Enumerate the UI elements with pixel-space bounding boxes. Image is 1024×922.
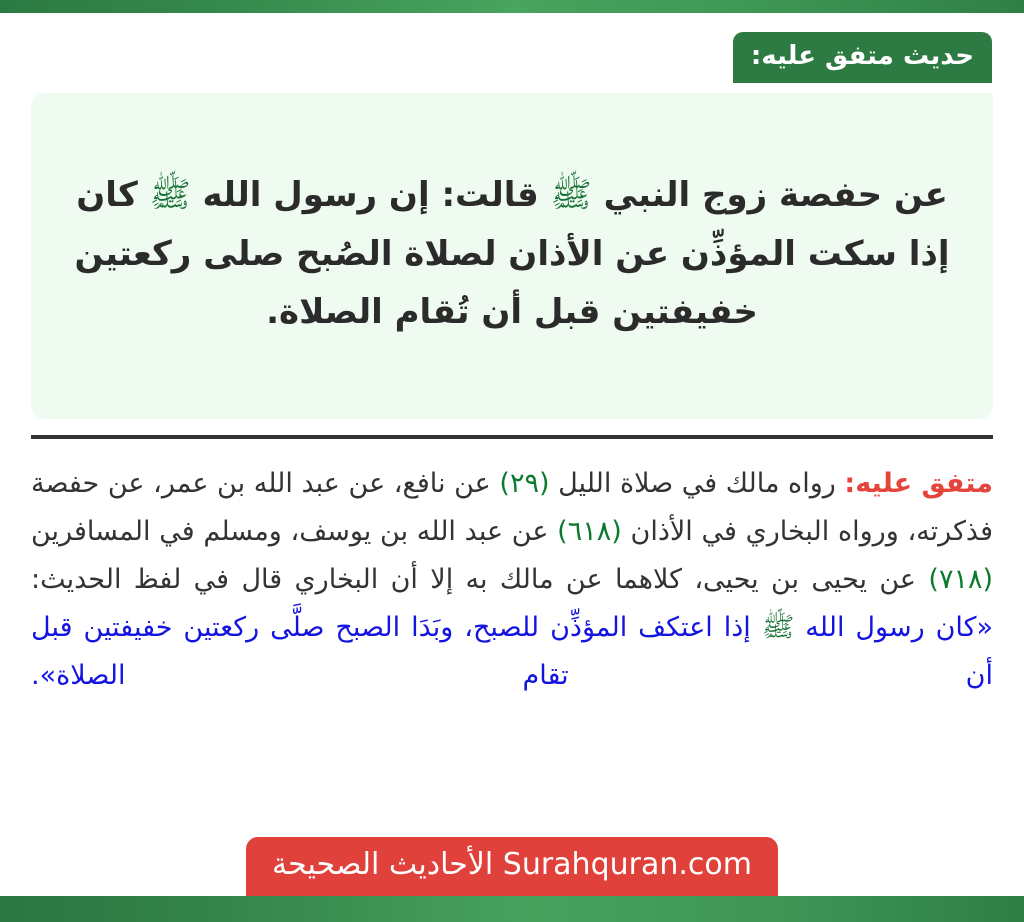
footer-row: Surahquran.com الأحاديث الصحيحة <box>0 837 1024 896</box>
sallallahu-alayhi-wasallam-icon: ﷺ <box>551 175 592 215</box>
hadith-panel: عن حفصة زوج النبي ﷺ قالت: إن رسول الله ﷺ… <box>31 93 993 419</box>
commentary-segment-3: عن عبد الله بن يوسف، ومسلم في المسافرين <box>31 516 557 547</box>
hadith-grade-badge: حديث متفق عليه: <box>733 32 992 83</box>
site-url-label: Surahquran.com <box>503 847 752 882</box>
bottom-decorative-bar <box>0 896 1024 922</box>
sallallahu-alayhi-wasallam-icon: ﷺ <box>762 612 795 643</box>
hadith-text-part-2: قالت: إن رسول الله <box>191 175 551 215</box>
grading-label: متفق عليه: <box>844 468 993 499</box>
header-badge-row: حديث متفق عليه: <box>0 32 1024 83</box>
top-decorative-bar <box>0 0 1024 13</box>
quote-part-1: «كان رسول الله <box>794 612 993 643</box>
hadith-reference-number: (٢٩) <box>499 468 549 499</box>
commentary-segment-4: عن يحيى بن يحيى، كلاهما عن مالك به إلا أ… <box>31 564 928 595</box>
commentary-segment-1: رواه مالك في صلاة الليل <box>550 468 845 499</box>
takhrij-commentary: متفق عليه: رواه مالك في صلاة الليل (٢٩) … <box>31 460 993 700</box>
hadith-reference-number: (٦١٨) <box>557 516 622 547</box>
hadith-text-part-1: عن حفصة زوج النبي <box>592 175 948 215</box>
sallallahu-alayhi-wasallam-icon: ﷺ <box>150 175 191 215</box>
hadith-body: عن حفصة زوج النبي ﷺ قالت: إن رسول الله ﷺ… <box>69 166 955 341</box>
hadith-card: حديث متفق عليه: عن حفصة زوج النبي ﷺ قالت… <box>0 0 1024 922</box>
site-footer-banner[interactable]: Surahquran.com الأحاديث الصحيحة <box>246 837 778 896</box>
section-divider <box>31 435 993 439</box>
footer-arabic-label: الأحاديث الصحيحة <box>272 847 493 882</box>
hadith-reference-number: (٧١٨) <box>928 564 993 595</box>
bukhari-wording-quote: «كان رسول الله ﷺ إذا اعتكف المؤذِّن للصب… <box>31 612 993 691</box>
